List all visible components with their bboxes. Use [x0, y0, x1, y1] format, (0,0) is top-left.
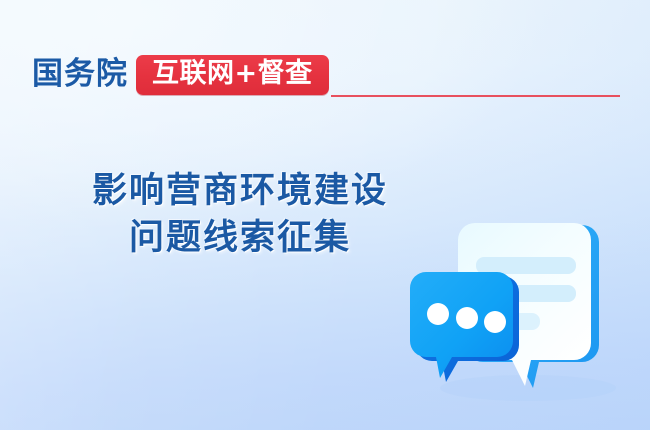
page-title-line-1: 影响营商环境建设 [0, 168, 480, 215]
big-bubble-content-line-1 [476, 257, 576, 274]
typing-dot-3 [484, 311, 506, 333]
illustration-ground-shadow [440, 375, 616, 401]
chat-bubbles-illustration [400, 210, 630, 410]
typing-dot-1 [427, 303, 449, 325]
header-divider-rule [331, 95, 620, 97]
program-badge-label: 互联网+督查 [152, 60, 313, 87]
campaign-banner: 国务院 互联网+督查 影响营商环境建设 问题线索征集 [0, 0, 650, 430]
typing-dot-2 [456, 307, 478, 329]
program-badge[interactable]: 互联网+督查 [136, 55, 329, 95]
banner-header: 国务院 互联网+督查 [32, 52, 620, 98]
organization-name: 国务院 [32, 59, 128, 92]
